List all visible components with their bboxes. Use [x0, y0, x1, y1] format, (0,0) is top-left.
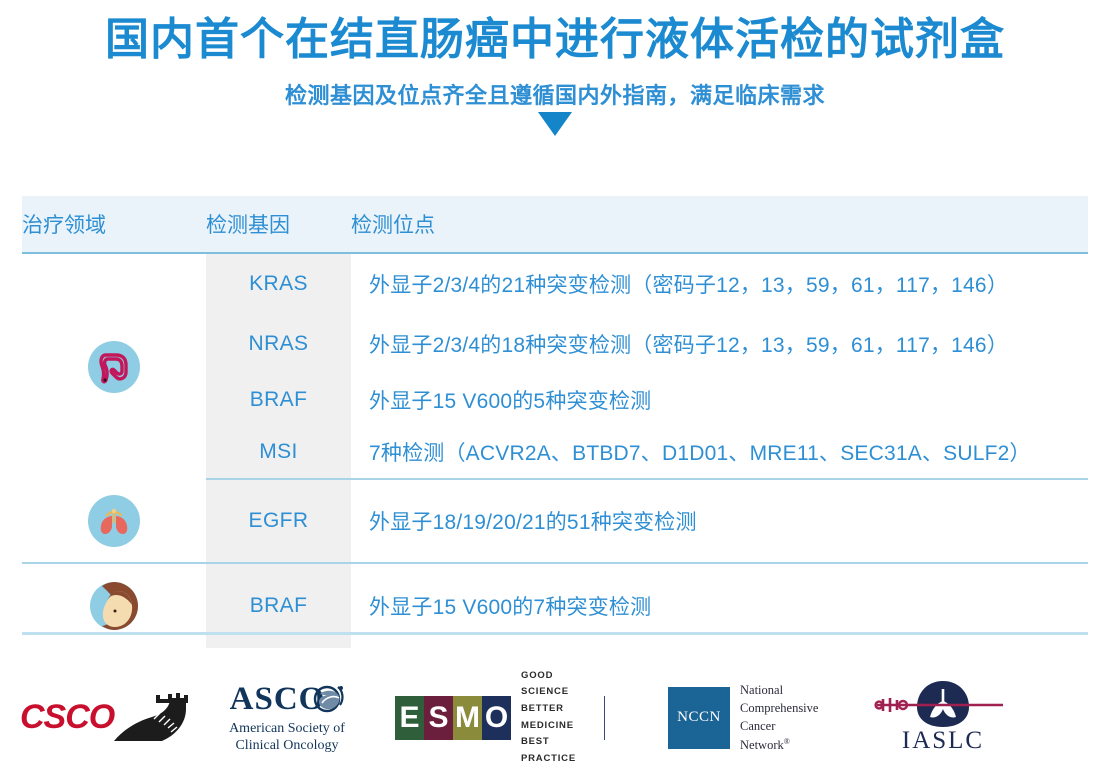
csco-logo-text: CSCO — [20, 698, 114, 737]
guideline-logo-strip: CSCO ASCO — [0, 662, 1110, 773]
gene-cell: NRAS — [206, 314, 351, 374]
column-header-gene: 检测基因 — [206, 196, 351, 253]
esmo-logo: E S M O GOOD SCIENCE BETTER MEDICINE BES… — [395, 662, 605, 773]
gene-panel-table: 治疗领域 检测基因 检测位点 KRAS 外显子2/3/4的21种突变检测（密码子… — [22, 196, 1088, 648]
asco-logo-tagline: American Society of Clinical Oncology — [229, 720, 345, 755]
asco-globe-icon — [312, 683, 344, 715]
site-cell: 外显子15 V600的5种突变检测 — [351, 374, 1088, 426]
skin-face-icon — [88, 580, 140, 632]
nccn-logo-mark: NCCN — [668, 687, 730, 749]
gene-cell: KRAS — [206, 253, 351, 314]
nccn-text-line1: National — [740, 681, 818, 699]
down-arrow-wrapper — [0, 112, 1110, 141]
table-header-row: 治疗领域 检测基因 检测位点 — [22, 196, 1088, 253]
iaslc-lung-sword-icon — [853, 675, 1033, 735]
esmo-letter-o: O — [482, 696, 511, 740]
esmo-tagline-line2: BETTER MEDICINE — [521, 701, 590, 734]
organ-cell-skin-face — [22, 563, 206, 648]
esmo-logo-wordmark: E S M O — [395, 696, 511, 740]
column-header-therapy-area: 治疗领域 — [22, 196, 206, 253]
esmo-letter-m: M — [453, 696, 482, 740]
asco-tagline-line2: Clinical Oncology — [229, 737, 345, 755]
site-cell: 外显子18/19/20/21的51种突变检测 — [351, 479, 1088, 563]
table-row: EGFR 外显子18/19/20/21的51种突变检测 — [22, 479, 1088, 563]
asco-tagline-line1: American Society of — [229, 720, 345, 738]
great-wall-icon — [110, 689, 194, 747]
nccn-text-line2: Comprehensive — [740, 699, 818, 717]
table-row: BRAF 外显子15 V600的7种突变检测 — [22, 563, 1088, 648]
organ-cell-colon — [22, 253, 206, 479]
site-cell: 外显子2/3/4的21种突变检测（密码子12，13，59，61，117，146） — [351, 253, 1088, 314]
esmo-tagline-line3: BEST PRACTICE — [521, 734, 590, 767]
page-subtitle: 检测基因及位点齐全且遵循国内外指南，满足临床需求 — [0, 78, 1110, 110]
site-cell: 外显子2/3/4的18种突变检测（密码子12，13，59，61，117，146） — [351, 314, 1088, 374]
iaslc-logo-graphic: IASLC — [853, 675, 1033, 761]
column-header-site: 检测位点 — [351, 196, 1088, 253]
table-row: KRAS 外显子2/3/4的21种突变检测（密码子12，13，59，61，117… — [22, 253, 1088, 314]
slide-root: 国内首个在结直肠癌中进行液体活检的试剂盒 检测基因及位点齐全且遵循国内外指南，满… — [0, 0, 1110, 773]
table-bottom-rule — [22, 632, 1088, 635]
esmo-letter-s: S — [424, 696, 453, 740]
asco-logo: ASCO American Society of Clinical Oncolo… — [212, 662, 362, 773]
asco-logo-wordmark: ASCO — [230, 681, 345, 718]
iaslc-logo: IASLC — [848, 662, 1038, 773]
nccn-text-line4: Network® — [740, 736, 818, 754]
gene-cell: BRAF — [206, 563, 351, 648]
site-cell: 外显子15 V600的7种突变检测 — [351, 563, 1088, 648]
site-cell: 7种检测（ACVR2A、BTBD7、D1D01、MRE11、SEC31A、SUL… — [351, 426, 1088, 479]
down-triangle-icon — [538, 112, 572, 136]
gene-cell: MSI — [206, 426, 351, 479]
esmo-letter-e: E — [395, 696, 424, 740]
gene-cell: EGFR — [206, 479, 351, 563]
iaslc-logo-text: IASLC — [853, 727, 1033, 755]
nccn-text-line3: Cancer — [740, 717, 818, 735]
esmo-divider — [604, 696, 605, 740]
registered-mark-icon: ® — [784, 737, 790, 746]
page-title: 国内首个在结直肠癌中进行液体活检的试剂盒 — [0, 12, 1110, 67]
nccn-logo: NCCN National Comprehensive Cancer Netwo… — [668, 662, 868, 773]
lung-icon — [88, 495, 140, 547]
colon-icon — [88, 341, 140, 393]
gene-cell: BRAF — [206, 374, 351, 426]
esmo-logo-tagline: GOOD SCIENCE BETTER MEDICINE BEST PRACTI… — [521, 668, 590, 768]
csco-logo: CSCO — [20, 662, 200, 773]
asco-logo-text: ASCO — [230, 681, 326, 718]
esmo-tagline-line1: GOOD SCIENCE — [521, 668, 590, 701]
organ-cell-lung — [22, 479, 206, 563]
nccn-logo-text: National Comprehensive Cancer Network® — [740, 681, 818, 754]
